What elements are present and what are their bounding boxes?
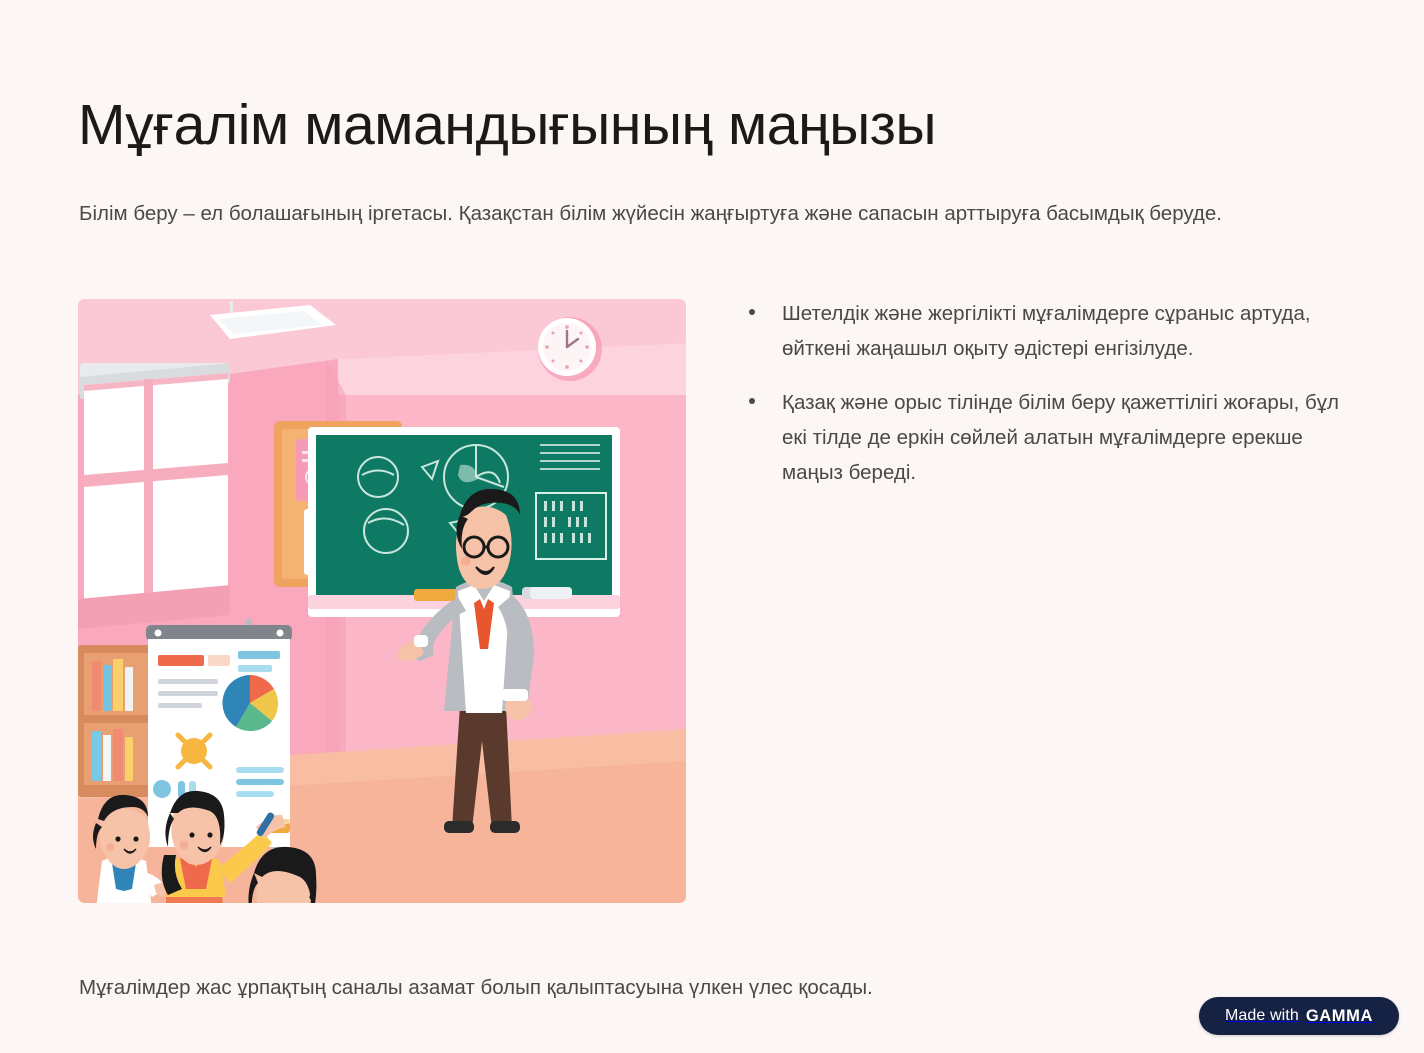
made-with-gamma-badge[interactable]: Made with GAMMA — [1199, 997, 1399, 1035]
made-with-label: Made with — [1225, 1007, 1299, 1025]
list-item-text: Шетелдік және жергілікті мұғалімдерге сұ… — [782, 302, 1311, 360]
list-item-text: Қазақ және орыс тілінде білім беру қажет… — [782, 391, 1339, 485]
classroom-illustration — [78, 299, 686, 903]
footer-caption: Мұғалімдер жас ұрпақтың саналы азамат бо… — [79, 972, 1179, 1005]
gamma-wordmark: GAMMA — [1306, 1007, 1373, 1026]
key-points-list: Шетелдік және жергілікті мұғалімдерге сұ… — [742, 296, 1342, 508]
bullet-dot-icon — [749, 309, 755, 315]
page-title: Мұғалім мамандығының маңызы — [78, 92, 1338, 159]
classroom-illustration-svg — [78, 299, 686, 903]
list-item: Қазақ және орыс тілінде білім беру қажет… — [742, 385, 1342, 491]
bullet-dot-icon — [749, 398, 755, 404]
list-item: Шетелдік және жергілікті мұғалімдерге сұ… — [742, 296, 1342, 367]
intro-paragraph: Білім беру – ел болашағының іргетасы. Қа… — [79, 197, 1291, 231]
slide-root: Мұғалім мамандығының маңызы Білім беру –… — [0, 0, 1424, 1053]
